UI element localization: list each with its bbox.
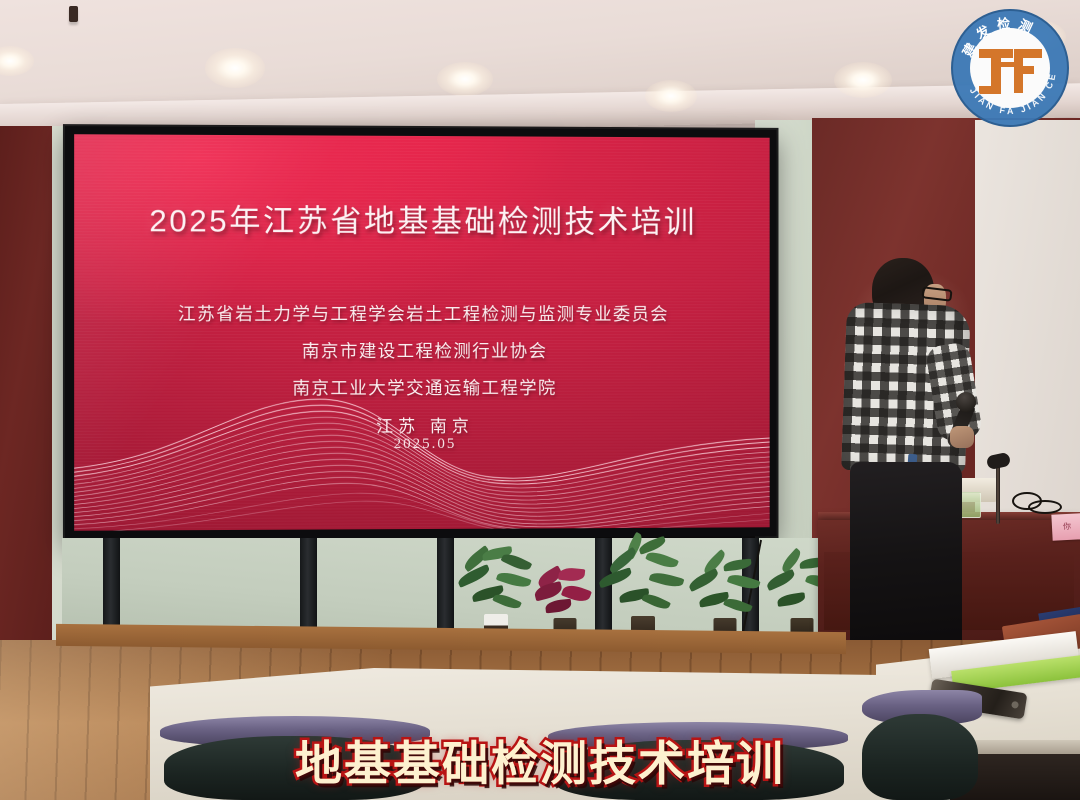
downlight-icon [437, 62, 493, 96]
trousers [850, 462, 962, 648]
caption-bar: 地基基础检测技术培训 地基基础检测技术培训 [0, 720, 1080, 800]
organizer-line-2: 南京市建设工程检测行业协会 [74, 338, 770, 363]
organizer-line-1: 江苏省岩土力学与工程学会岩土工程检测与监测专业委员会 [74, 301, 770, 326]
conference-room-scene: 2025年江苏省地基基础检测技术培训 江苏省岩土力学与工程学会岩土工程检测与监测… [0, 0, 1080, 800]
watermark-logo: 建发检测 JIAN FA JIAN CE [946, 4, 1074, 132]
name-card: 你 [1051, 513, 1080, 541]
slide-wave-graphic [74, 383, 770, 531]
name-card-text: 你 [1052, 520, 1080, 533]
hand [950, 426, 974, 448]
led-screen-display: 2025年江苏省地基基础检测技术培训 江苏省岩土力学与工程学会岩土工程检测与监测… [74, 134, 770, 531]
caption-text: 地基基础检测技术培训 [0, 725, 1080, 794]
sprinkler-head-icon [69, 6, 78, 22]
slide-title: 2025年江苏省地基基础检测技术培训 [74, 195, 770, 242]
downlight-icon [205, 48, 265, 88]
led-screen-bezel: 2025年江苏省地基基础检测技术培训 江苏省岩土力学与工程学会岩土工程检测与监测… [65, 126, 777, 540]
cable-coil [1028, 500, 1062, 514]
microphone-stand [996, 462, 1000, 524]
speaker-person [836, 258, 996, 646]
downlight-icon [834, 62, 892, 98]
downlight-icon [645, 80, 697, 112]
potted-plant [596, 538, 690, 644]
